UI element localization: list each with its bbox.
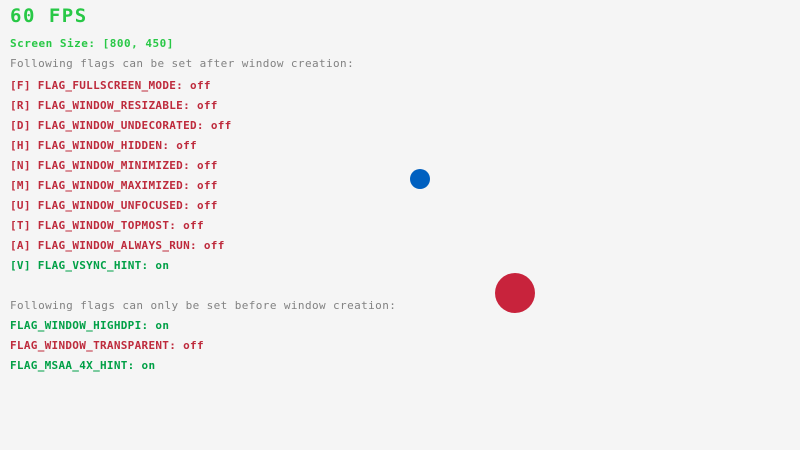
flag-value: off	[211, 119, 232, 132]
flag-name: FLAG_FULLSCREEN_MODE:	[38, 79, 183, 92]
flag-name: FLAG_WINDOW_HIDDEN:	[38, 139, 170, 152]
flag-row[interactable]: FLAG_MSAA_4X_HINT: on	[10, 360, 155, 371]
blue-ball	[410, 169, 430, 189]
section-header: Following flags can be set after window …	[10, 58, 354, 69]
flag-row[interactable]: [F] FLAG_FULLSCREEN_MODE: off	[10, 80, 211, 91]
fps-counter: 60 FPS	[10, 7, 88, 26]
flag-value: off	[190, 79, 211, 92]
section-header: Following flags can only be set before w…	[10, 300, 396, 311]
flag-shortcut-key: [R]	[10, 99, 31, 112]
flag-shortcut-key: [U]	[10, 199, 31, 212]
raylib-window-canvas[interactable]: 60 FPS Screen Size: [800, 450] Following…	[0, 0, 800, 450]
flag-shortcut-key: [T]	[10, 219, 31, 232]
flag-row[interactable]: [R] FLAG_WINDOW_RESIZABLE: off	[10, 100, 218, 111]
flag-value: off	[197, 179, 218, 192]
flag-value: off	[197, 199, 218, 212]
flag-shortcut-key: [H]	[10, 139, 31, 152]
flag-shortcut-key: [A]	[10, 239, 31, 252]
flag-value: off	[183, 339, 204, 352]
flag-name: FLAG_WINDOW_ALWAYS_RUN:	[38, 239, 197, 252]
flag-value: on	[142, 359, 156, 372]
flag-row[interactable]: [A] FLAG_WINDOW_ALWAYS_RUN: off	[10, 240, 225, 251]
flag-shortcut-key: [V]	[10, 259, 31, 272]
flag-row[interactable]: [V] FLAG_VSYNC_HINT: on	[10, 260, 169, 271]
red-ball	[495, 273, 535, 313]
flag-value: off	[183, 219, 204, 232]
flag-name: FLAG_MSAA_4X_HINT:	[10, 359, 135, 372]
flag-value: on	[155, 319, 169, 332]
flag-shortcut-key: [N]	[10, 159, 31, 172]
flag-row[interactable]: [U] FLAG_WINDOW_UNFOCUSED: off	[10, 200, 218, 211]
flag-name: FLAG_WINDOW_TRANSPARENT:	[10, 339, 176, 352]
flag-row[interactable]: [N] FLAG_WINDOW_MINIMIZED: off	[10, 160, 218, 171]
flag-value: off	[197, 159, 218, 172]
flag-shortcut-key: [D]	[10, 119, 31, 132]
flag-name: FLAG_VSYNC_HINT:	[38, 259, 149, 272]
flag-value: off	[176, 139, 197, 152]
flag-row[interactable]: [M] FLAG_WINDOW_MAXIMIZED: off	[10, 180, 218, 191]
flag-name: FLAG_WINDOW_TOPMOST:	[38, 219, 176, 232]
flag-name: FLAG_WINDOW_MAXIMIZED:	[38, 179, 190, 192]
flag-shortcut-key: [F]	[10, 79, 31, 92]
flag-name: FLAG_WINDOW_MINIMIZED:	[38, 159, 190, 172]
flag-value: off	[204, 239, 225, 252]
flag-name: FLAG_WINDOW_RESIZABLE:	[38, 99, 190, 112]
flag-row[interactable]: [T] FLAG_WINDOW_TOPMOST: off	[10, 220, 204, 231]
flag-name: FLAG_WINDOW_HIGHDPI:	[10, 319, 148, 332]
flag-row[interactable]: [D] FLAG_WINDOW_UNDECORATED: off	[10, 120, 232, 131]
flag-value: off	[197, 99, 218, 112]
flag-row[interactable]: [H] FLAG_WINDOW_HIDDEN: off	[10, 140, 197, 151]
flag-shortcut-key: [M]	[10, 179, 31, 192]
flag-row[interactable]: FLAG_WINDOW_TRANSPARENT: off	[10, 340, 204, 351]
flag-value: on	[155, 259, 169, 272]
flag-name: FLAG_WINDOW_UNDECORATED:	[38, 119, 204, 132]
flag-name: FLAG_WINDOW_UNFOCUSED:	[38, 199, 190, 212]
flag-row[interactable]: FLAG_WINDOW_HIGHDPI: on	[10, 320, 169, 331]
screen-size-label: Screen Size: [800, 450]	[10, 38, 174, 49]
